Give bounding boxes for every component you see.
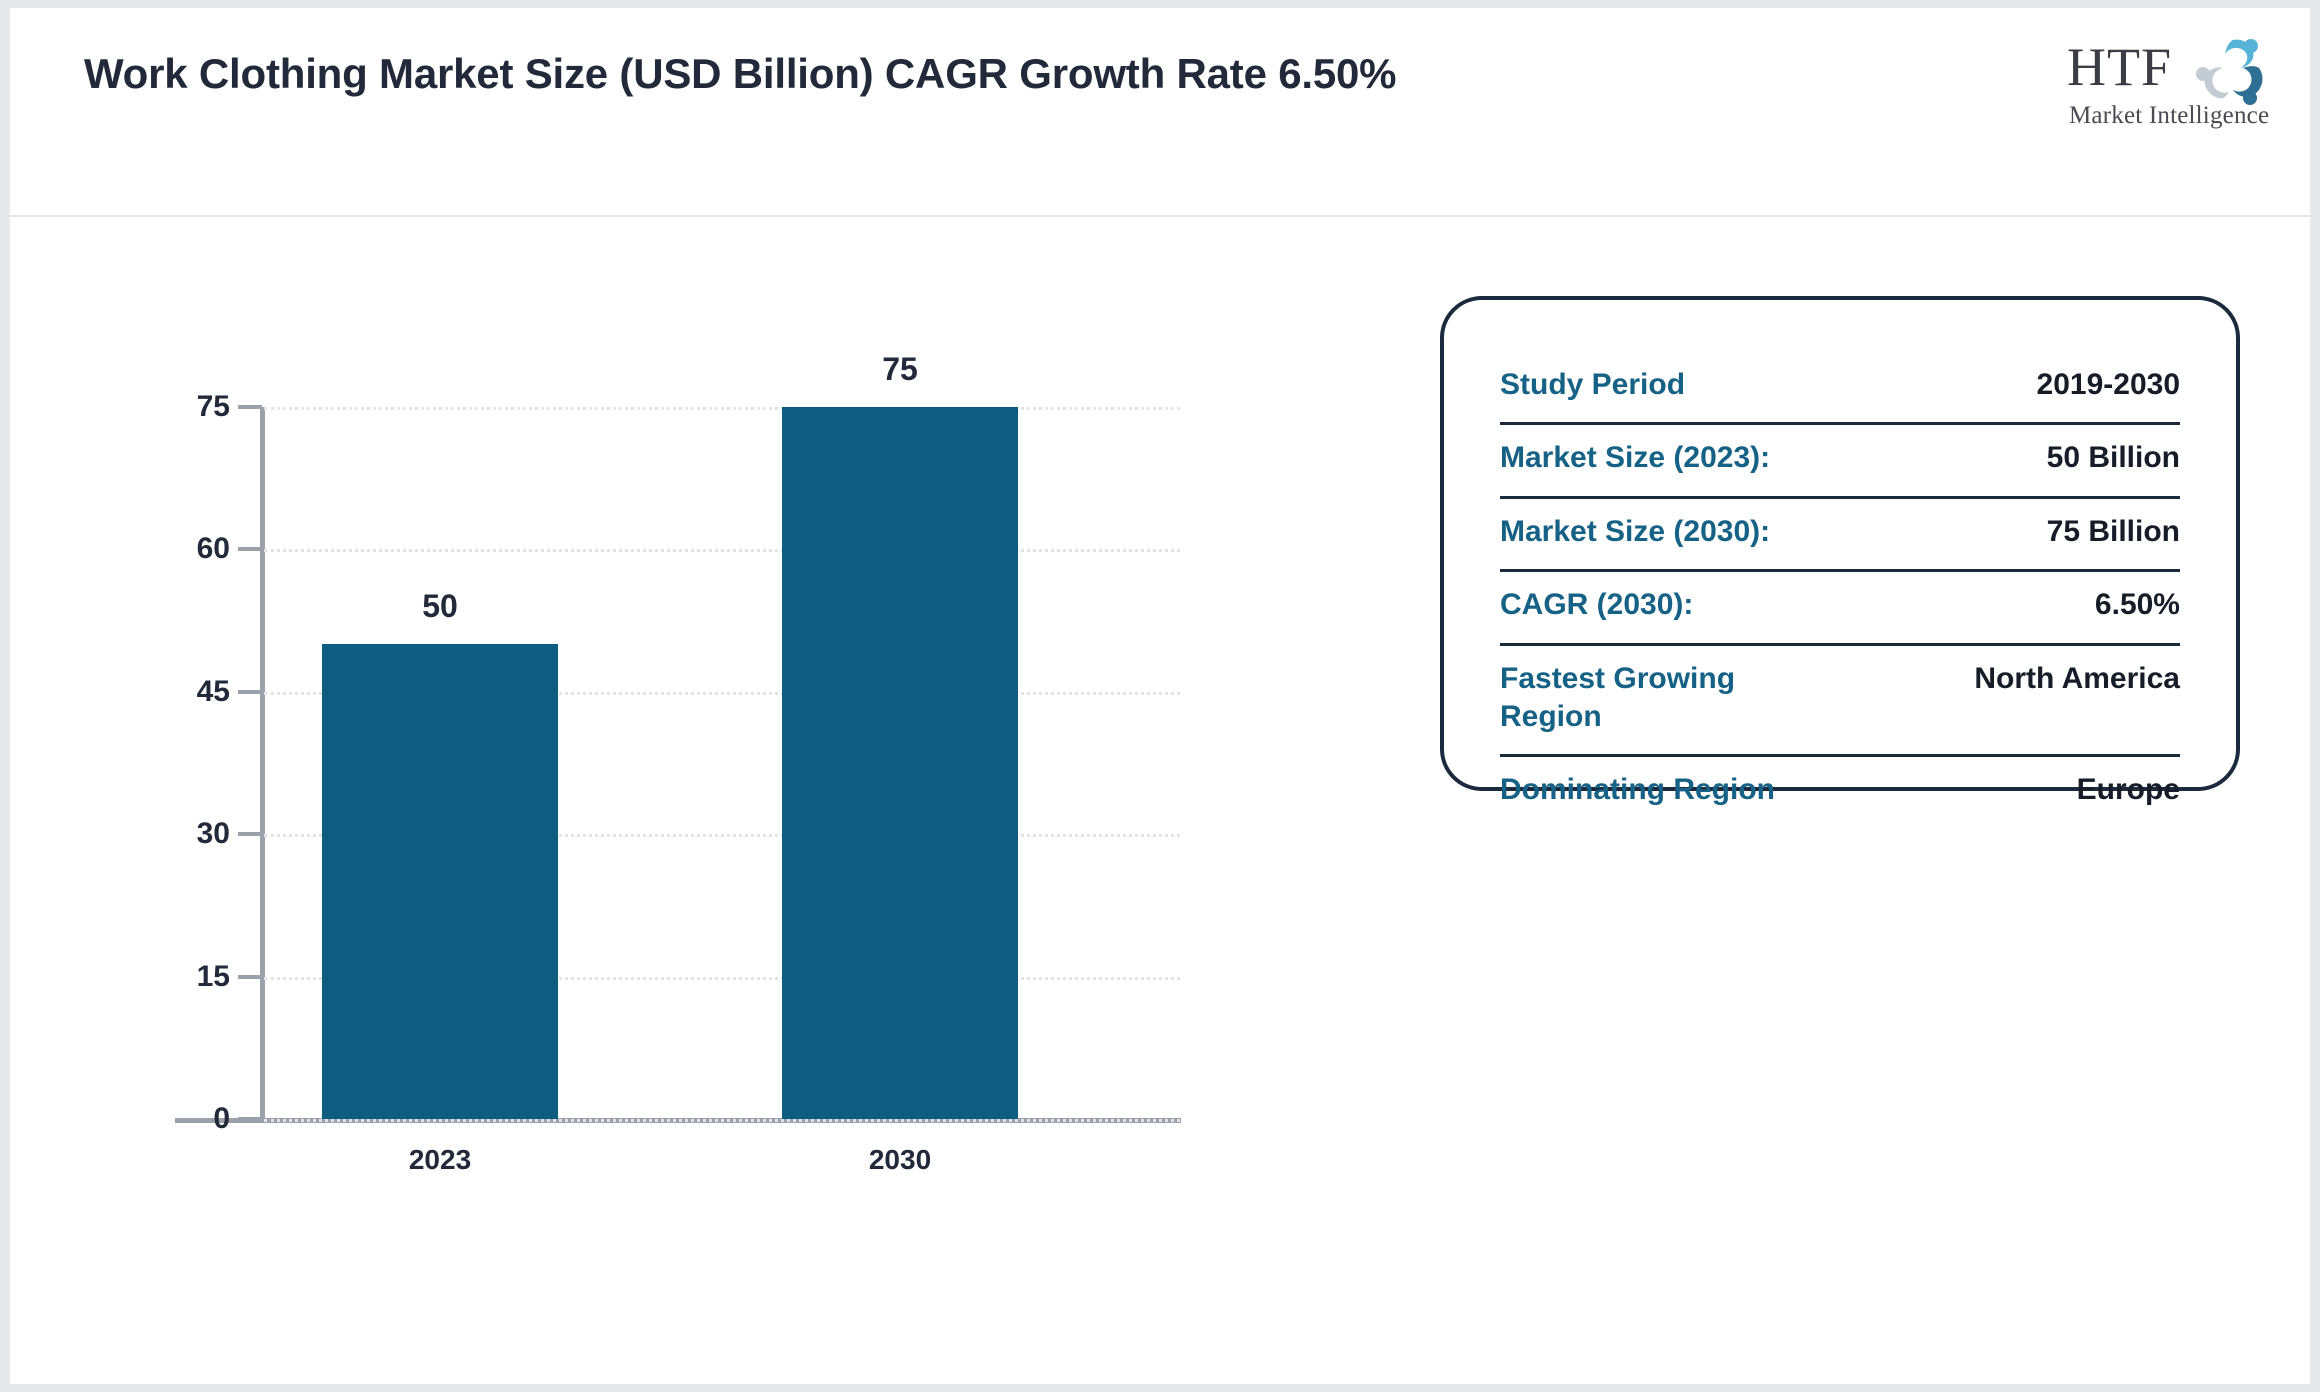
- info-row-label: Market Size (2030):: [1500, 513, 1770, 551]
- y-tick-mark: [238, 975, 262, 979]
- info-row-label: Study Period: [1500, 366, 1685, 404]
- y-tick-label: 60: [197, 532, 230, 566]
- y-tick-mark: [238, 832, 262, 836]
- content-card: Work Clothing Market Size (USD Billion) …: [10, 8, 2310, 1384]
- bar-chart: USD Billion 01530456075502023752030: [10, 217, 1310, 1384]
- info-row-value: Europe: [2077, 771, 2180, 809]
- info-row-value: 75 Billion: [2047, 513, 2180, 551]
- info-row-value: 2019-2030: [2037, 366, 2180, 404]
- info-row-label: Dominating Region: [1500, 771, 1775, 809]
- logo-mark-row: HTF: [2061, 36, 2277, 104]
- y-tick-label: 0: [213, 1102, 230, 1136]
- y-tick-mark: [238, 547, 262, 551]
- info-row-label: Market Size (2023):: [1500, 439, 1770, 477]
- y-tick-label: 30: [197, 817, 230, 851]
- three-person-swirl-icon: [2189, 36, 2273, 108]
- info-row: Market Size (2023):50 Billion: [1500, 425, 2180, 498]
- y-tick-label: 15: [197, 960, 230, 994]
- bar-value-label: 75: [882, 351, 918, 388]
- summary-info-card: Study Period2019-2030Market Size (2023):…: [1440, 296, 2240, 791]
- info-row: Study Period2019-2030: [1500, 352, 2180, 425]
- y-tick-mark: [238, 405, 262, 409]
- info-row: Fastest Growing RegionNorth America: [1500, 646, 2180, 758]
- page-title: Work Clothing Market Size (USD Billion) …: [84, 50, 1584, 98]
- info-row-label: Fastest Growing Region: [1500, 660, 1840, 737]
- y-tick-label: 45: [197, 675, 230, 709]
- info-row-value: 50 Billion: [2047, 439, 2180, 477]
- info-row: Market Size (2030):75 Billion: [1500, 499, 2180, 572]
- logo-wordmark: HTF: [2067, 38, 2172, 96]
- page-header: Work Clothing Market Size (USD Billion) …: [10, 8, 2310, 217]
- y-tick-label: 75: [197, 390, 230, 424]
- y-axis-line: [260, 407, 265, 1119]
- bar[interactable]: [782, 407, 1018, 1119]
- info-row-value: North America: [1974, 660, 2180, 698]
- plot-area: USD Billion 01530456075502023752030: [260, 407, 1180, 1119]
- y-tick-mark: [238, 690, 262, 694]
- x-category-label: 2023: [409, 1144, 471, 1176]
- gridline: [264, 407, 1180, 410]
- gridline: [264, 1119, 1180, 1122]
- bar-value-label: 50: [422, 588, 458, 625]
- info-row: Dominating RegionEurope: [1500, 757, 2180, 827]
- bar[interactable]: [322, 644, 558, 1119]
- page-root: Work Clothing Market Size (USD Billion) …: [0, 0, 2320, 1392]
- logo-tagline: Market Intelligence: [2069, 102, 2269, 130]
- info-row: CAGR (2030):6.50%: [1500, 572, 2180, 645]
- brand-logo[interactable]: HTF Market Intelligence: [2061, 36, 2277, 134]
- x-category-label: 2030: [869, 1144, 931, 1176]
- gridline: [264, 549, 1180, 552]
- info-row-value: 6.50%: [2095, 586, 2180, 624]
- info-row-label: CAGR (2030):: [1500, 586, 1693, 624]
- y-tick-mark: [238, 1117, 262, 1121]
